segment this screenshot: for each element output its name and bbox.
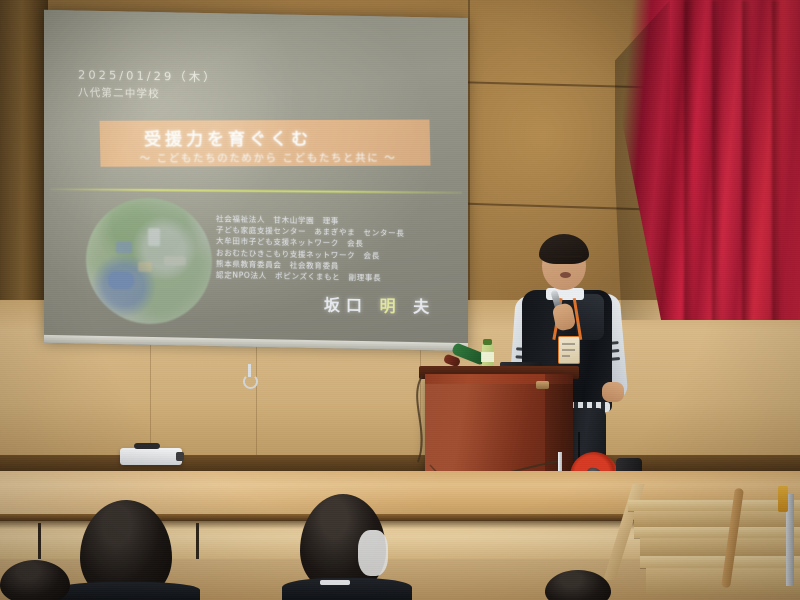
badge-text-line [562,349,575,351]
glasses [546,256,582,264]
stair-step [628,500,800,511]
badge-text-line [562,343,575,345]
speaker-credentials: 社会福祉法人 甘木山学園 理事 子ども家庭支援センター あまぎやま センター長 … [216,213,456,285]
podium-cable [400,370,600,480]
projected-slide: 2025/01/29（木） 八代第二中学校 受援力を育ぐくむ ～ こどもたちのた… [44,10,468,351]
stair-riser [640,538,800,556]
name-badge [558,336,580,364]
slide-subtitle: ～ こどもたちのためから こどもたちと共に ～ [98,150,438,166]
right-hand [602,382,624,402]
speaker-name-highlight: 明 [380,296,402,315]
speaker-name-surname: 坂口 [324,295,368,315]
bottle-cap [483,339,492,345]
map-water [108,271,134,289]
campus-map-image [86,197,212,325]
photo-scene: 2025/01/29（木） 八代第二中学校 受援力を育ぐくむ ～ こどもたちのた… [0,0,800,600]
speaker-name: 坂口 明 夫 [324,291,435,317]
front-wall-divider [196,523,199,561]
audience-shoulders [54,582,200,600]
stage-stairs [600,486,800,600]
curtain-fold [772,0,782,320]
curtain-fold [684,0,694,320]
rail-tassel [778,486,788,512]
curtain-fold [742,0,752,320]
front-wall-divider [38,523,41,561]
left-wall-jamb [0,0,22,330]
screen-hook-ring [243,374,258,389]
mouth [560,272,571,278]
wall-column-line [468,0,470,300]
stair-step [640,556,800,568]
speaker-name-given: 夫 [413,297,435,316]
slide-title: 受援力を育ぐくむ [144,124,444,150]
projection-screen: 2025/01/29（木） 八代第二中学校 受援力を育ぐくむ ～ こどもたちのた… [44,10,468,351]
accent-divider-line [50,188,462,194]
slide-school-name: 八代第二中学校 [78,85,160,102]
bottle-label [481,352,494,362]
slide-date: 2025/01/29（木） [78,67,218,86]
stage-curtain [615,0,800,320]
map-detail [138,262,152,272]
badge-text-line [562,355,570,357]
face-mask [358,530,388,576]
stair-step [634,527,800,538]
map-detail [164,256,186,265]
uniform-collar [320,580,350,585]
stair-riser [634,511,800,527]
projector-top-detail [134,443,160,449]
map-detail [116,241,132,253]
map-detail [148,228,160,246]
curtain-fold [712,0,722,320]
